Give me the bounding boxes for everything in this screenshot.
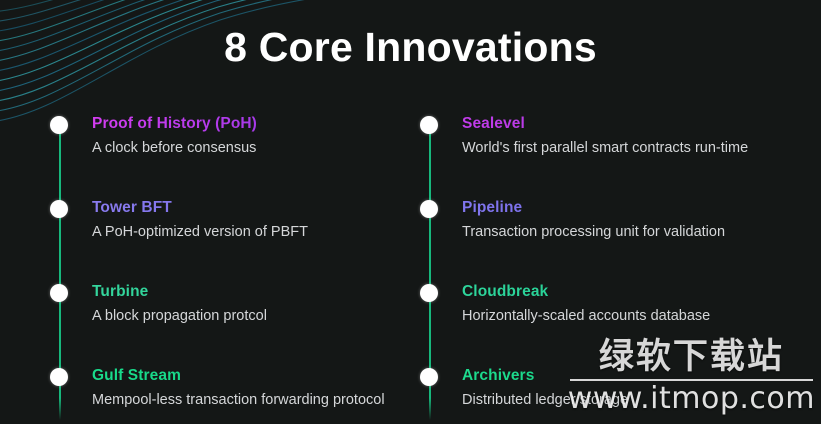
innovation-description: Transaction processing unit for validati… bbox=[462, 223, 792, 242]
innovation-title: Sealevel bbox=[462, 114, 792, 133]
innovation-title: Turbine bbox=[92, 282, 422, 301]
innovation-column-right: Sealevel World's first parallel smart co… bbox=[420, 114, 792, 424]
innovation-description: World's first parallel smart contracts r… bbox=[462, 139, 792, 158]
innovation-description: A PoH-optimized version of PBFT bbox=[92, 223, 422, 242]
innovation-title: Pipeline bbox=[462, 198, 792, 217]
innovation-description: Mempool-less transaction forwarding prot… bbox=[92, 391, 422, 410]
innovation-title: Proof of History (PoH) bbox=[92, 114, 422, 133]
list-item[interactable]: Turbine A block propagation protcol bbox=[50, 282, 422, 366]
list-item[interactable]: Pipeline Transaction processing unit for… bbox=[420, 198, 792, 282]
bullet-dot-icon bbox=[420, 200, 438, 218]
list-item[interactable]: Cloudbreak Horizontally-scaled accounts … bbox=[420, 282, 792, 366]
bullet-dot-icon bbox=[50, 200, 68, 218]
innovation-column-left: Proof of History (PoH) A clock before co… bbox=[50, 114, 422, 424]
innovation-title: Tower BFT bbox=[92, 198, 422, 217]
list-item[interactable]: Sealevel World's first parallel smart co… bbox=[420, 114, 792, 198]
innovation-description: A clock before consensus bbox=[92, 139, 422, 158]
bullet-dot-icon bbox=[50, 368, 68, 386]
list-item[interactable]: Proof of History (PoH) A clock before co… bbox=[50, 114, 422, 198]
bullet-dot-icon bbox=[50, 284, 68, 302]
bullet-dot-icon bbox=[420, 284, 438, 302]
list-item[interactable]: Gulf Stream Mempool-less transaction for… bbox=[50, 366, 422, 424]
bullet-dot-icon bbox=[420, 116, 438, 134]
innovation-title: Gulf Stream bbox=[92, 366, 422, 385]
innovation-title: Cloudbreak bbox=[462, 282, 792, 301]
innovation-description: A block propagation protcol bbox=[92, 307, 422, 326]
bullet-dot-icon bbox=[420, 368, 438, 386]
list-item[interactable]: Archivers Distributed ledger storage bbox=[420, 366, 792, 424]
innovation-title: Archivers bbox=[462, 366, 792, 385]
innovation-description: Horizontally-scaled accounts database bbox=[462, 307, 792, 326]
bullet-dot-icon bbox=[50, 116, 68, 134]
innovation-description: Distributed ledger storage bbox=[462, 391, 792, 410]
page-title: 8 Core Innovations bbox=[0, 24, 821, 71]
list-item[interactable]: Tower BFT A PoH-optimized version of PBF… bbox=[50, 198, 422, 282]
slide-root: 8 Core Innovations Proof of History (PoH… bbox=[0, 0, 821, 424]
